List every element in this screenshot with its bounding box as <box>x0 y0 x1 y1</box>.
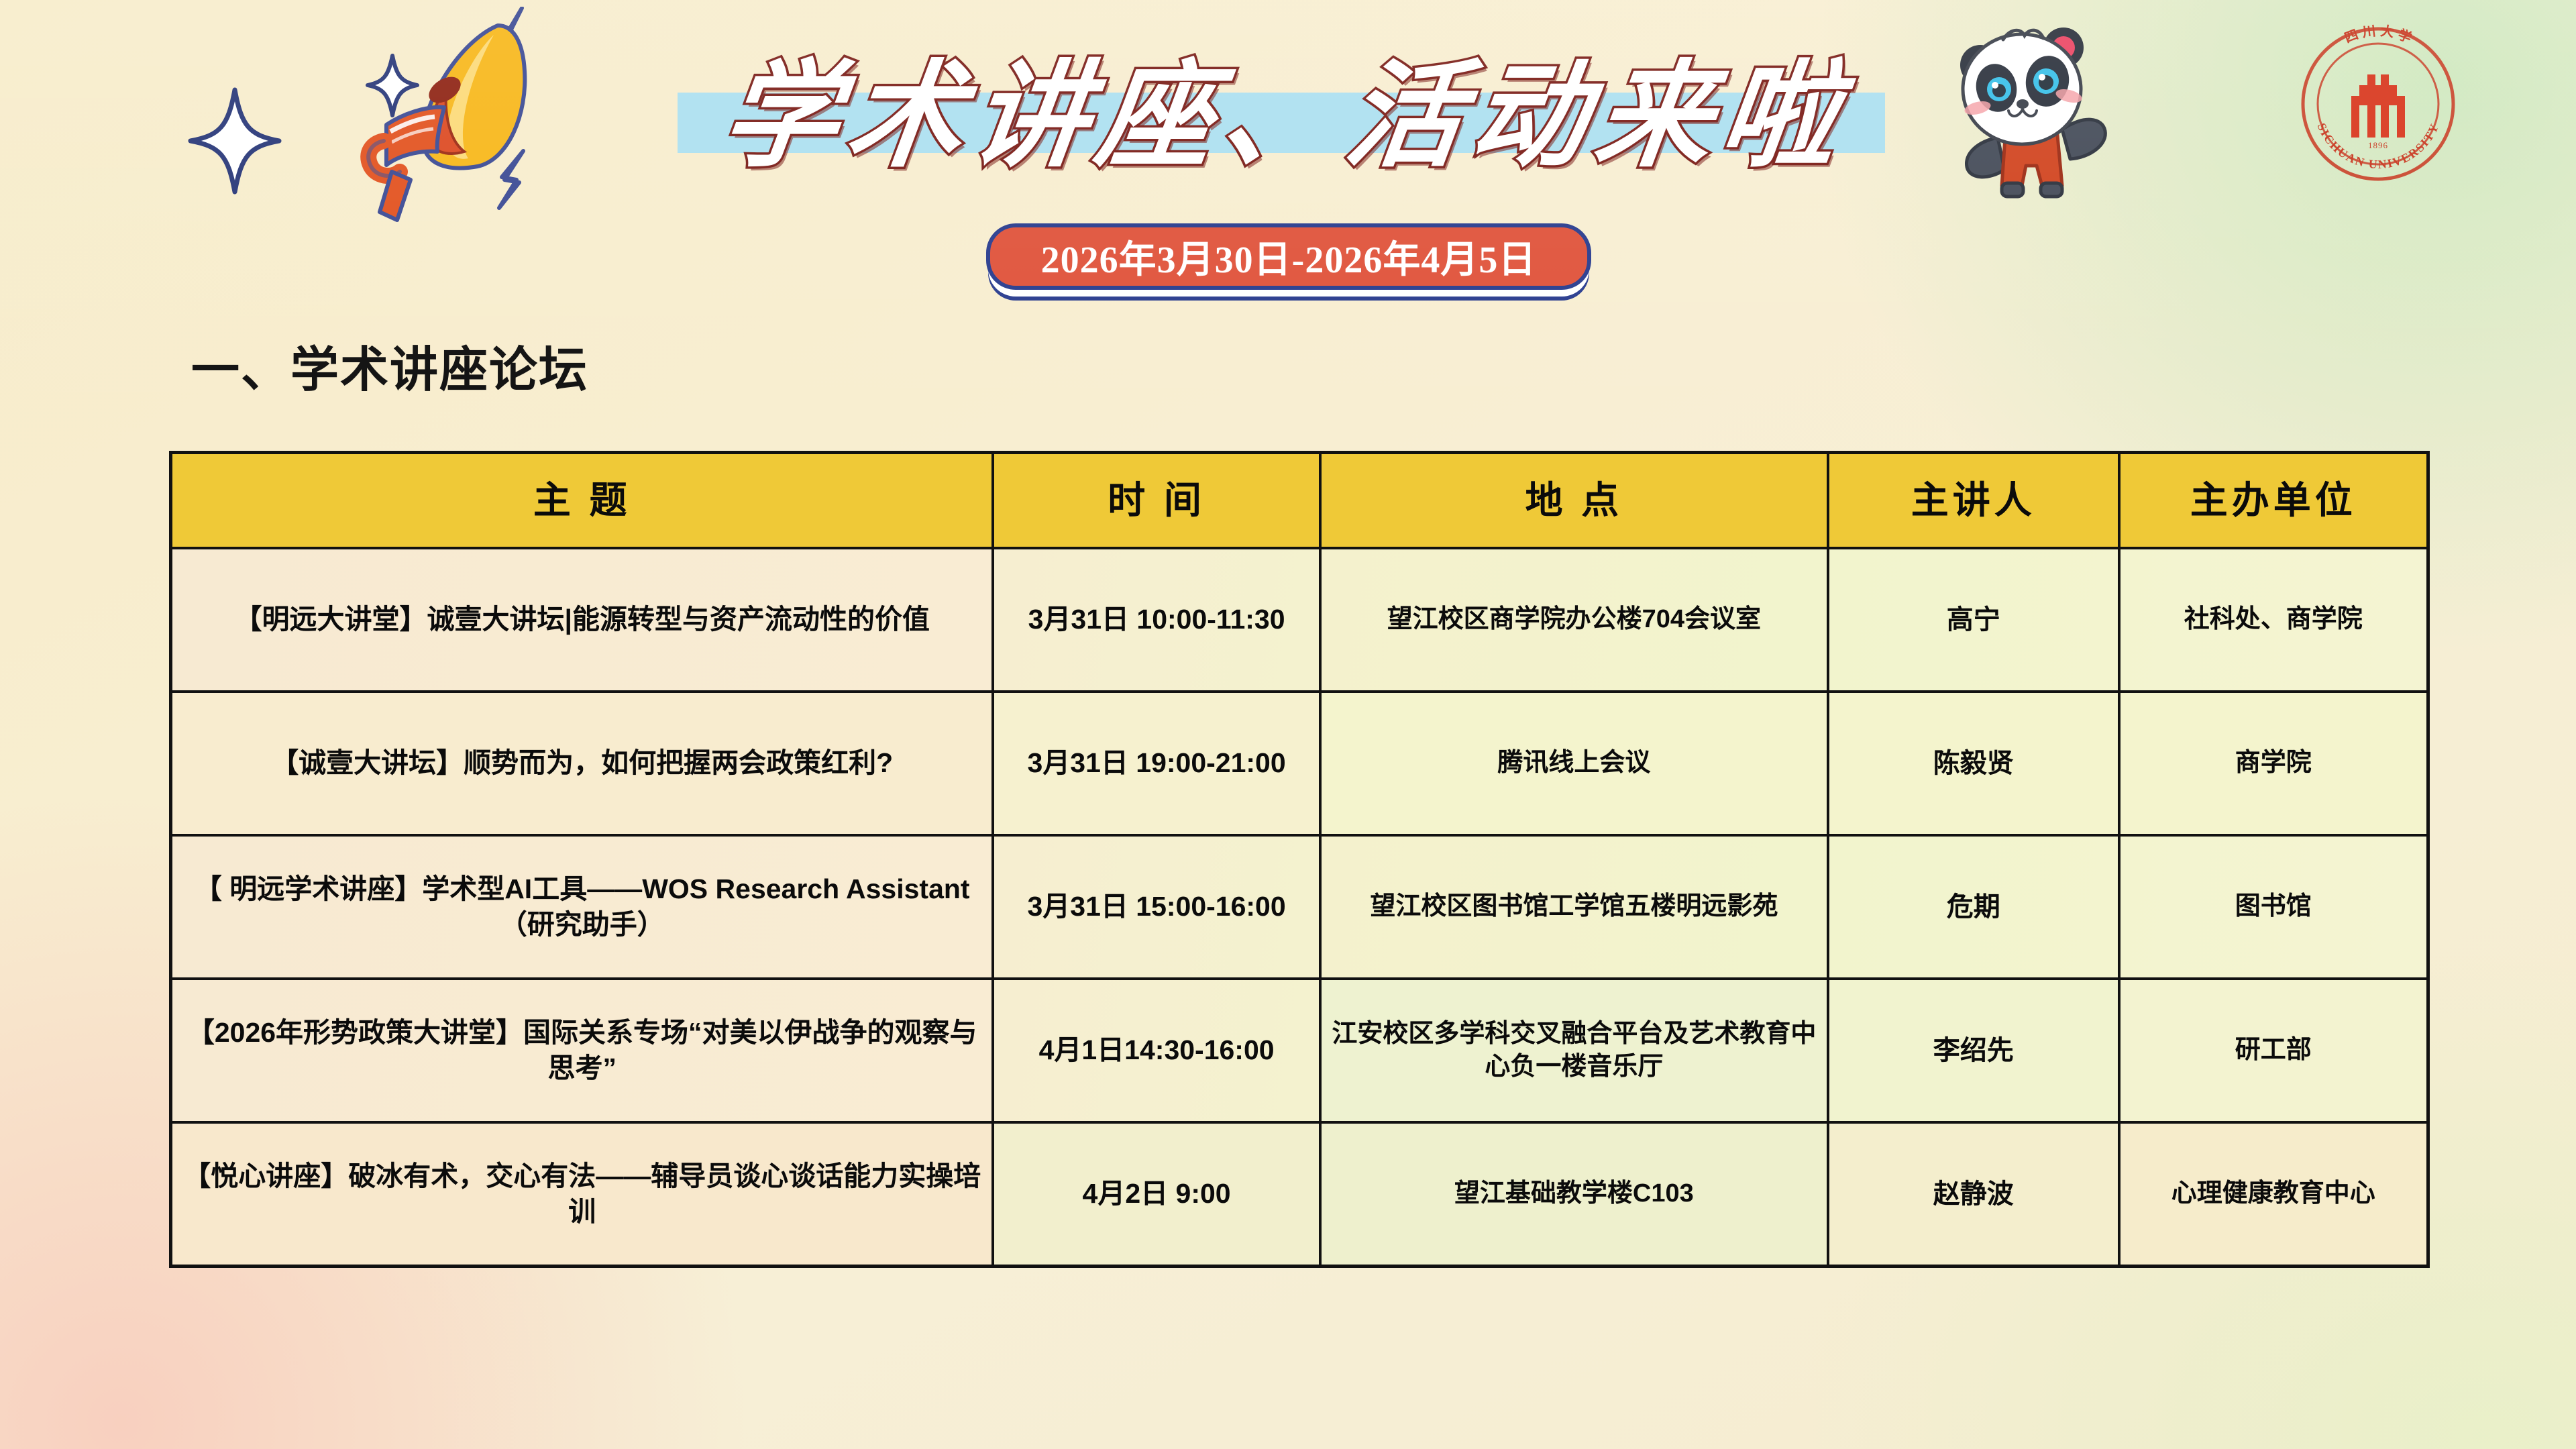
column-header-speaker: 主讲人 <box>1828 453 2119 549</box>
cell-org: 心理健康教育中心 <box>2119 1122 2428 1267</box>
cell-place: 望江基础教学楼C103 <box>1320 1122 1828 1267</box>
poster-canvas: 学术讲座、活动来啦 2026年3月30日-2026年4月5日 <box>0 0 2576 1449</box>
cell-org: 图书馆 <box>2119 835 2428 979</box>
table-row: 【诚壹大讲坛】顺势而为，如何把握两会政策红利? 3月31日 19:00-21:0… <box>171 692 2428 835</box>
cell-time: 3月31日 10:00-11:30 <box>993 548 1320 692</box>
cell-topic: 【明远大讲堂】诚壹大讲坛|能源转型与资产流动性的价值 <box>171 548 994 692</box>
cell-place: 望江校区图书馆工学馆五楼明远影苑 <box>1320 835 1828 979</box>
cell-org: 社科处、商学院 <box>2119 548 2428 692</box>
megaphone-icon <box>322 7 610 228</box>
cell-org: 研工部 <box>2119 979 2428 1122</box>
cell-speaker: 赵静波 <box>1828 1122 2119 1267</box>
cell-time: 4月1日14:30-16:00 <box>993 979 1320 1122</box>
svg-text:四 川 大 学: 四 川 大 学 <box>2343 23 2414 46</box>
cell-topic: 【诚壹大讲坛】顺势而为，如何把握两会政策红利? <box>171 692 994 835</box>
cell-topic: 【 明远学术讲座】学术型AI工具——WOS Research Assistant… <box>171 835 994 979</box>
cell-place: 江安校区多学科交叉融合平台及艺术教育中心负一楼音乐厅 <box>1320 979 1828 1122</box>
table-row: 【2026年形势政策大讲堂】国际关系专场“对美以伊战争的观察与思考” 4月1日1… <box>171 979 2428 1122</box>
section-heading: 一、学术讲座论坛 <box>191 330 588 400</box>
cell-org: 商学院 <box>2119 692 2428 835</box>
cell-time: 3月31日 19:00-21:00 <box>993 692 1320 835</box>
column-header-topic: 主 题 <box>171 453 994 549</box>
table-row: 【 明远学术讲座】学术型AI工具——WOS Research Assistant… <box>171 835 2428 979</box>
cell-speaker: 高宁 <box>1828 548 2119 692</box>
poster-title: 学术讲座、活动来啦 <box>671 40 1898 195</box>
schedule-table-container: 主 题 时 间 地 点 主讲人 主办单位 【明远大讲堂】诚壹大讲坛|能源转型与资… <box>169 451 2430 1268</box>
column-header-place: 地 点 <box>1320 453 1828 549</box>
date-range-badge: 2026年3月30日-2026年4月5日 <box>986 223 1591 290</box>
table-row: 【明远大讲堂】诚壹大讲坛|能源转型与资产流动性的价值 3月31日 10:00-1… <box>171 548 2428 692</box>
schedule-table: 主 题 时 间 地 点 主讲人 主办单位 【明远大讲堂】诚壹大讲坛|能源转型与资… <box>169 451 2430 1268</box>
cell-time: 3月31日 15:00-16:00 <box>993 835 1320 979</box>
cell-speaker: 李绍先 <box>1828 979 2119 1122</box>
table-row: 【悦心讲座】破冰有术，交心有法——辅导员谈心谈话能力实操培训 4月2日 9:00… <box>171 1122 2428 1267</box>
cell-place: 望江校区商学院办公楼704会议室 <box>1320 548 1828 692</box>
cell-topic: 【2026年形势政策大讲堂】国际关系专场“对美以伊战争的观察与思考” <box>171 979 994 1122</box>
cell-speaker: 危期 <box>1828 835 2119 979</box>
cell-place: 腾讯线上会议 <box>1320 692 1828 835</box>
date-range-text: 2026年3月30日-2026年4月5日 <box>1041 229 1537 284</box>
sparkle-large-icon <box>188 87 282 195</box>
sichuan-university-logo-icon: 1896 四 川 大 学 SICHUAN UNIVERSITY <box>2298 23 2459 184</box>
cell-topic: 【悦心讲座】破冰有术，交心有法——辅导员谈心谈话能力实操培训 <box>171 1122 994 1267</box>
table-body: 【明远大讲堂】诚壹大讲坛|能源转型与资产流动性的价值 3月31日 10:00-1… <box>171 548 2428 1267</box>
column-header-org: 主办单位 <box>2119 453 2428 549</box>
poster-title-text: 学术讲座、活动来啦 <box>661 40 1908 195</box>
table-header-row: 主 题 时 间 地 点 主讲人 主办单位 <box>171 453 2428 549</box>
cell-speaker: 陈毅贤 <box>1828 692 2119 835</box>
cell-time: 4月2日 9:00 <box>993 1122 1320 1267</box>
logo-year-text: 1896 <box>2368 140 2388 150</box>
table-header: 主 题 时 间 地 点 主讲人 主办单位 <box>171 453 2428 549</box>
column-header-time: 时 间 <box>993 453 1320 549</box>
logo-cn-text: 四 川 大 学 <box>2343 23 2414 46</box>
panda-mascot-icon <box>1919 10 2140 211</box>
